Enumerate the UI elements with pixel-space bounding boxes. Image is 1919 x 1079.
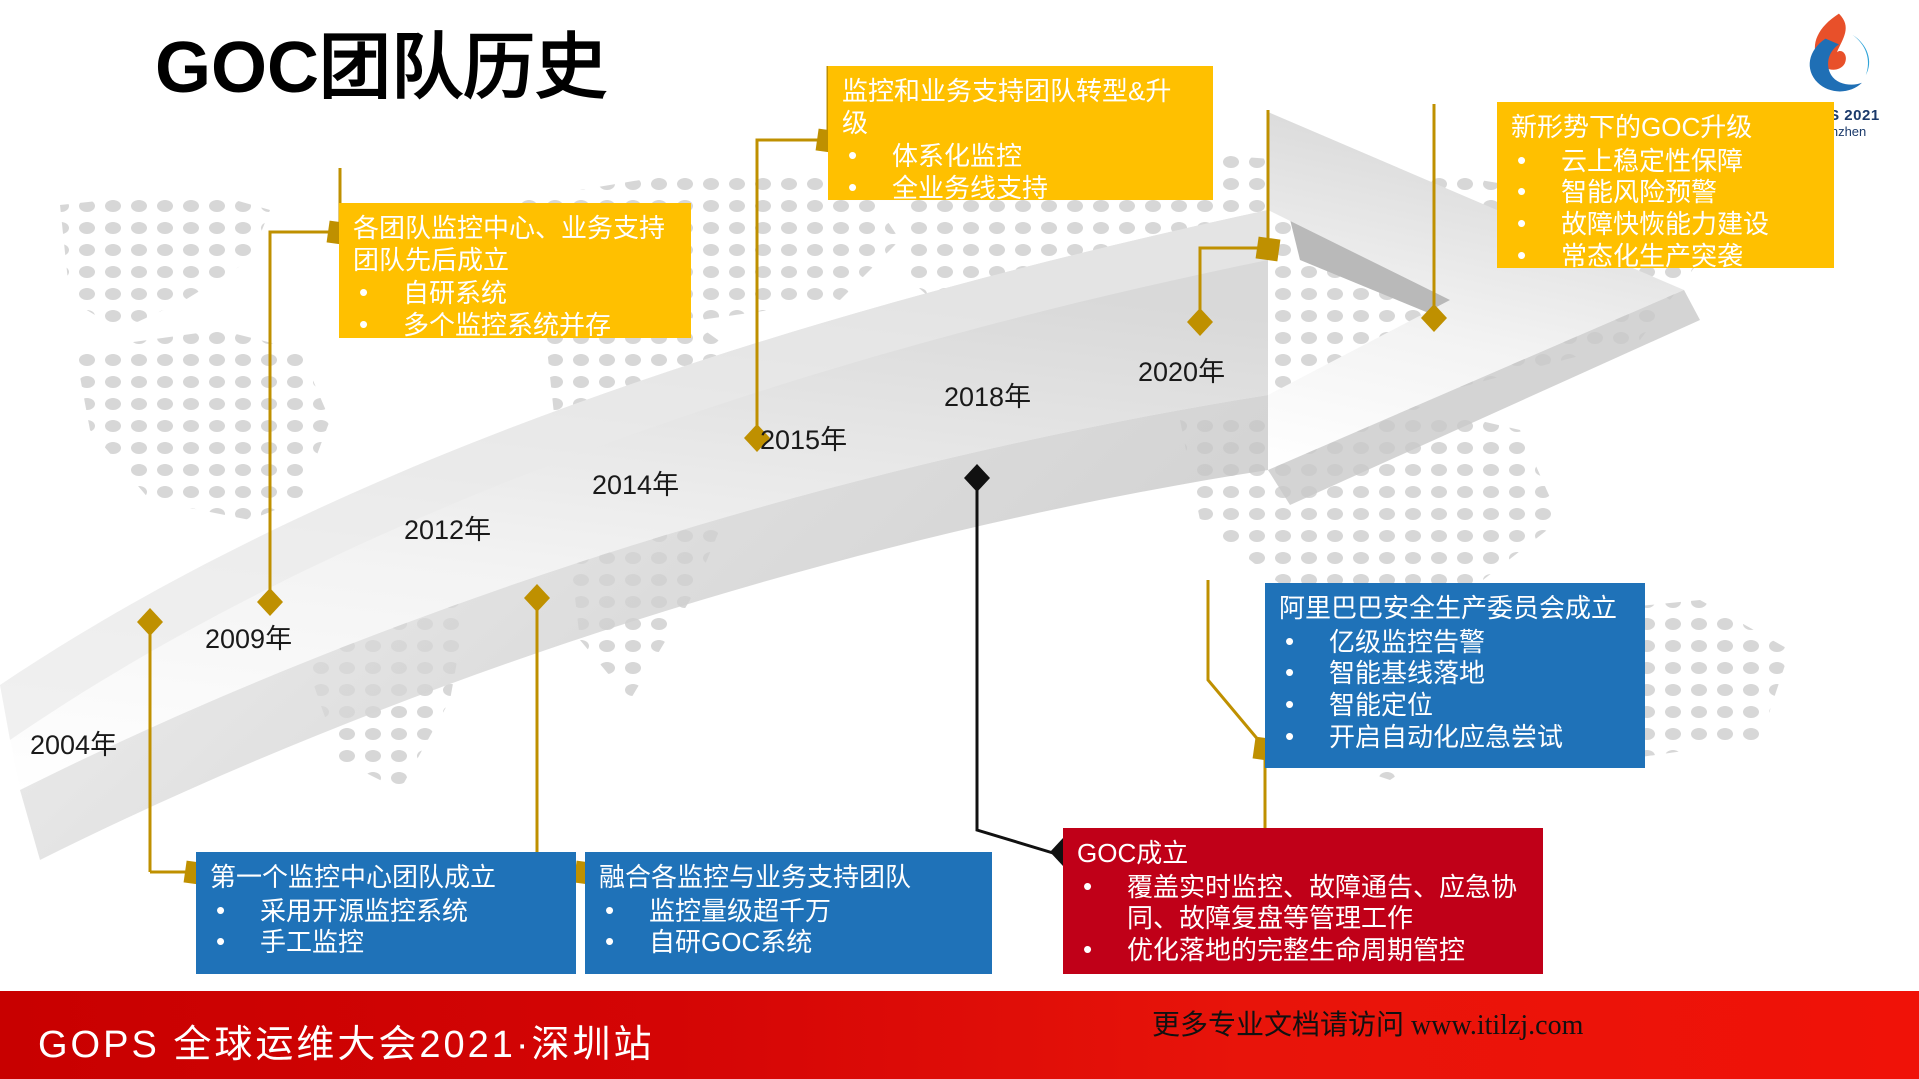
gops-logo-mark <box>1789 6 1885 102</box>
callout-card-2009[interactable]: 各团队监控中心、业务支持 团队先后成立 自研系统 多个监控系统并存 <box>339 203 691 338</box>
year-label-2020: 2020年 <box>1138 350 1225 389</box>
callout-bullet: 故障快恢能力建设 <box>1511 209 1820 241</box>
callout-card-2004[interactable]: 第一个监控中心团队成立 采用开源监控系统 手工监控 <box>196 852 576 974</box>
year-label-2004: 2004年 <box>30 723 117 762</box>
callout-bullet: 智能定位 <box>1279 690 1631 722</box>
callout-title-2014: 监控和业务支持团队转型&升 级 <box>842 76 1199 139</box>
callout-bullets-2009: 自研系统 多个监控系统并存 <box>353 278 677 341</box>
callout-card-2015[interactable]: GOC成立 覆盖实时监控、故障通告、应急协 同、故障复盘等管理工作 优化落地的完… <box>1063 828 1543 974</box>
year-label-2014: 2014年 <box>592 463 679 502</box>
callout-title-2012: 融合各监控与业务支持团队 <box>599 862 978 894</box>
year-label-2012: 2012年 <box>404 508 491 547</box>
callout-title-2015: GOC成立 <box>1077 838 1529 870</box>
year-label-2018: 2018年 <box>944 375 1031 414</box>
callout-title-2009: 各团队监控中心、业务支持 团队先后成立 <box>353 213 677 276</box>
callout-bullets-2014: 体系化监控 全业务线支持 <box>842 141 1199 204</box>
callout-card-2020[interactable]: 新形势下的GOC升级 云上稳定性保障 智能风险预警 故障快恢能力建设 常态化生产… <box>1497 102 1834 268</box>
callout-title-2020: 新形势下的GOC升级 <box>1511 112 1820 144</box>
callout-bullet: 体系化监控 <box>842 141 1199 173</box>
callout-title-2004: 第一个监控中心团队成立 <box>210 862 562 894</box>
callout-bullet: 监控量级超千万 <box>599 896 978 928</box>
callout-bullet: 自研GOC系统 <box>599 927 978 959</box>
callout-card-2014[interactable]: 监控和业务支持团队转型&升 级 体系化监控 全业务线支持 <box>828 66 1213 200</box>
callout-bullet: 采用开源监控系统 <box>210 896 562 928</box>
callout-bullet: 自研系统 <box>353 278 677 310</box>
callout-bullets-2018: 亿级监控告警 智能基线落地 智能定位 开启自动化应急尝试 <box>1279 627 1631 754</box>
footer-watermark-note: 更多专业文档请访问 www.itilzj.com <box>1152 1003 1583 1043</box>
callout-bullet: 优化落地的完整生命周期管控 <box>1077 935 1529 967</box>
callout-bullet: 云上稳定性保障 <box>1511 146 1820 178</box>
callout-title-2018: 阿里巴巴安全生产委员会成立 <box>1279 593 1631 625</box>
callout-bullet: 多个监控系统并存 <box>353 310 677 342</box>
callout-card-2012[interactable]: 融合各监控与业务支持团队 监控量级超千万 自研GOC系统 <box>585 852 992 974</box>
callout-card-2018[interactable]: 阿里巴巴安全生产委员会成立 亿级监控告警 智能基线落地 智能定位 开启自动化应急… <box>1265 583 1645 768</box>
footer-conference-title: GOPS 全球运维大会2021·深圳站 <box>38 1013 655 1068</box>
callout-bullet: 常态化生产突袭 <box>1511 241 1820 273</box>
callout-bullets-2020: 云上稳定性保障 智能风险预警 故障快恢能力建设 常态化生产突袭 <box>1511 146 1820 273</box>
year-label-2009: 2009年 <box>205 617 292 656</box>
year-label-2015: 2015年 <box>760 418 847 457</box>
page-title: GOC团队历史 <box>155 32 607 104</box>
callout-bullet: 覆盖实时监控、故障通告、应急协 同、故障复盘等管理工作 <box>1077 872 1529 935</box>
footer-banner: GOPS 全球运维大会2021·深圳站 更多专业文档请访问 www.itilzj… <box>0 991 1919 1079</box>
callout-bullets-2004: 采用开源监控系统 手工监控 <box>210 896 562 959</box>
callout-bullets-2015: 覆盖实时监控、故障通告、应急协 同、故障复盘等管理工作 优化落地的完整生命周期管… <box>1077 872 1529 967</box>
callout-bullet: 手工监控 <box>210 927 562 959</box>
callout-bullet: 智能基线落地 <box>1279 658 1631 690</box>
callout-bullet: 智能风险预警 <box>1511 177 1820 209</box>
callout-bullet: 开启自动化应急尝试 <box>1279 722 1631 754</box>
callout-bullets-2012: 监控量级超千万 自研GOC系统 <box>599 896 978 959</box>
callout-bullet: 全业务线支持 <box>842 173 1199 205</box>
callout-bullet: 亿级监控告警 <box>1279 627 1631 659</box>
